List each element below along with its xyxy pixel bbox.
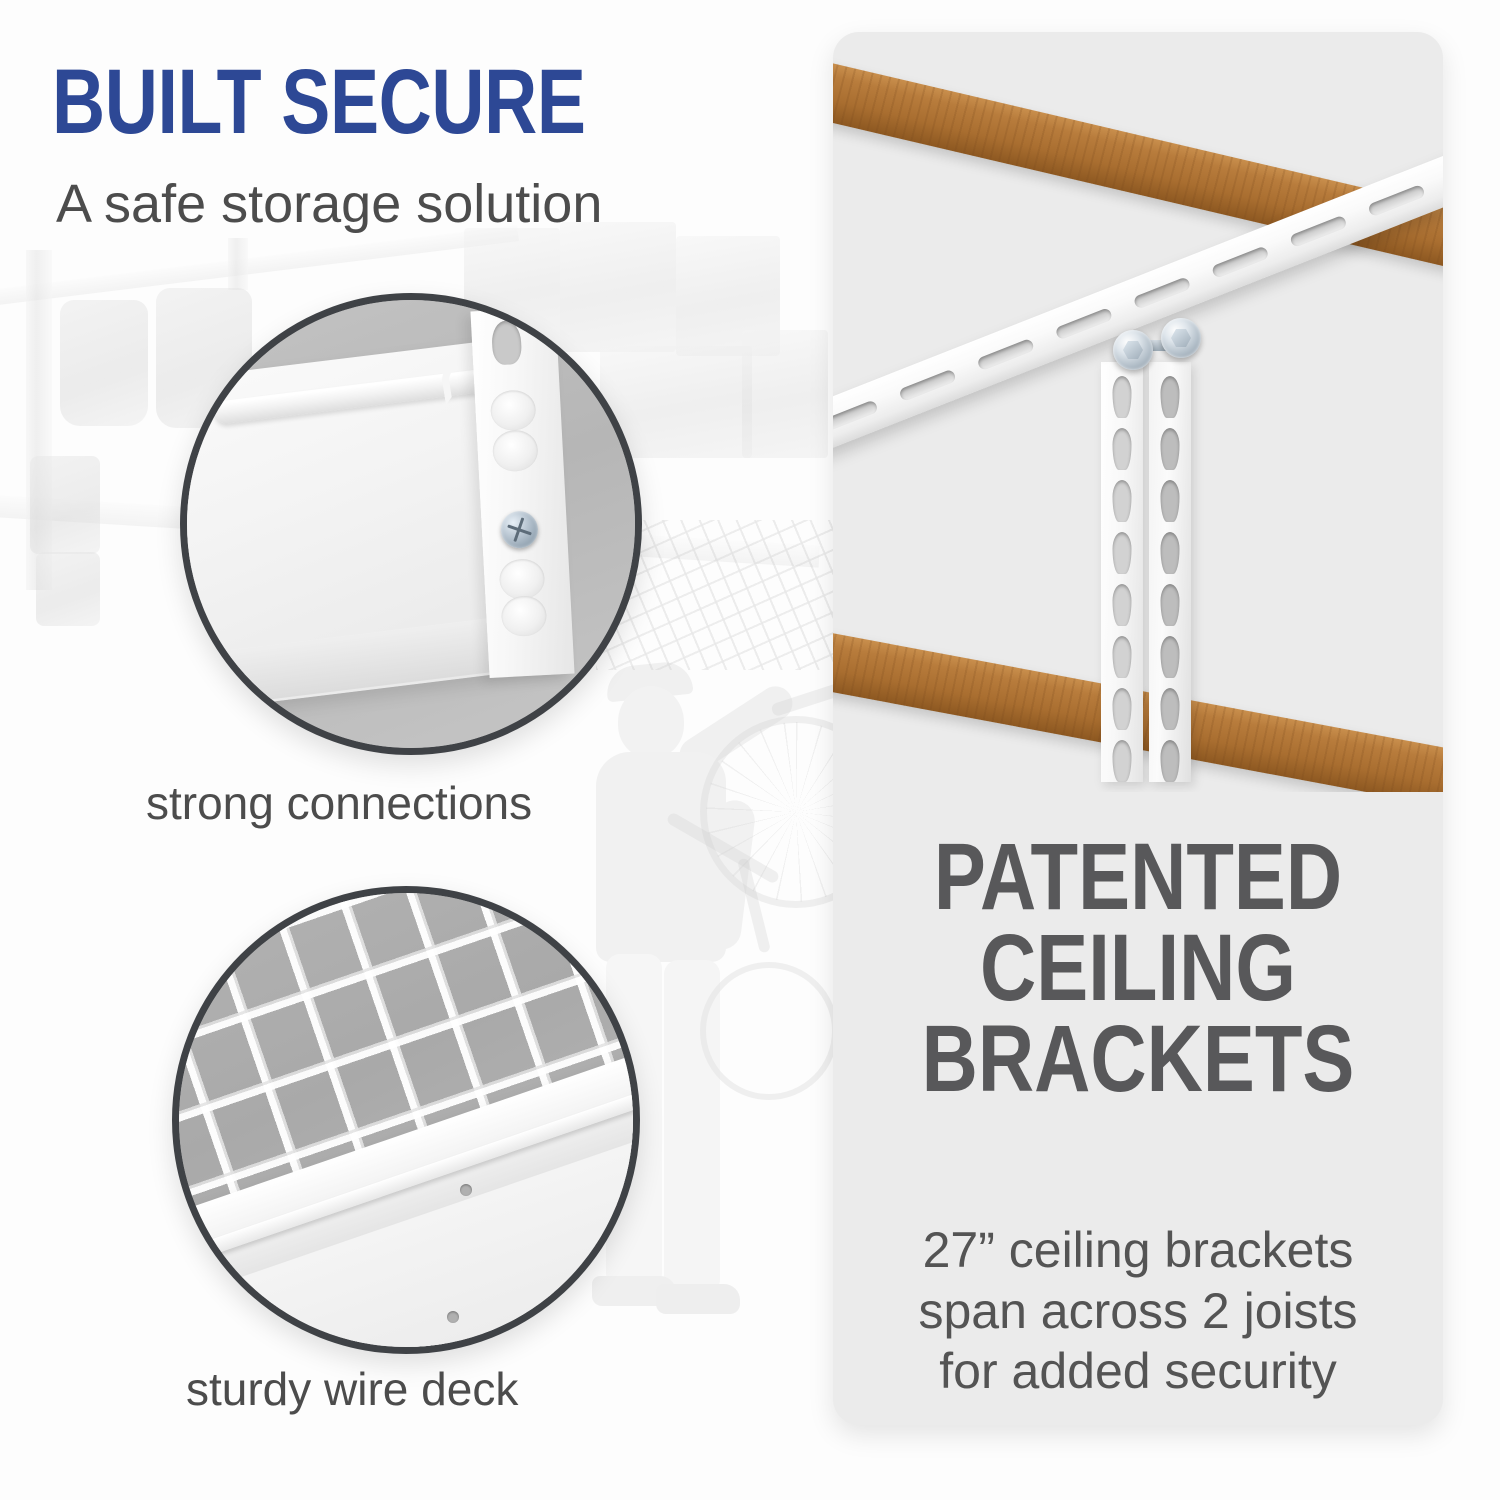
keyhole-slot — [1113, 480, 1132, 522]
card-subcaption: 27” ceiling brackets span across 2 joist… — [833, 1220, 1443, 1402]
ghost-person-lower-arm — [699, 798, 757, 952]
rail-slot — [976, 337, 1035, 370]
keyhole-slot — [1161, 584, 1180, 626]
vertical-hanging-rail-right — [1149, 362, 1191, 782]
ghost-person-shoe-right — [656, 1284, 740, 1314]
keyhole-slot — [1161, 428, 1180, 470]
ghost-bag-d — [36, 552, 100, 626]
product-feature-graphic: BUILT SECURE A safe storage solution str… — [0, 0, 1500, 1500]
keyhole-slot — [1161, 740, 1180, 782]
inset-sturdy-wire-deck — [172, 886, 640, 1354]
page-subheadline: A safe storage solution — [56, 176, 602, 233]
keyhole-slot — [1113, 688, 1132, 730]
wire-deck-mesh-photo — [179, 893, 633, 1347]
ghost-backpack-a — [60, 300, 148, 426]
keyhole-slot — [1113, 532, 1132, 574]
keyhole-slot — [1113, 428, 1132, 470]
page-headline: BUILT SECURE — [52, 58, 586, 146]
rail-slot — [1211, 245, 1270, 278]
vertical-hanging-rail-left — [1101, 362, 1143, 782]
hex-bolt-left — [1113, 330, 1153, 370]
keyhole-slot — [1113, 584, 1132, 626]
bracket-dimple-mid — [493, 429, 539, 472]
ghost-person-raised-arm — [673, 680, 799, 778]
keyhole-slot — [1113, 740, 1132, 782]
keyhole-slot — [1161, 636, 1180, 678]
ghost-bin-e — [742, 330, 828, 458]
keyhole-slot — [1161, 688, 1180, 730]
rail-slot — [1367, 183, 1426, 216]
card-title: PATENTED CEILING BRACKETS — [833, 832, 1443, 1106]
keyhole-slot — [492, 320, 523, 366]
bracket-dimple-upper — [490, 389, 536, 432]
ghost-bag-c — [30, 456, 100, 554]
card-subcaption-line-2: span across 2 joists — [833, 1281, 1443, 1342]
keyhole-slot — [1161, 480, 1180, 522]
ghost-rack-post-left — [26, 250, 52, 590]
zinc-phillips-screw — [500, 510, 539, 549]
deck-rivet-hole-a — [460, 1184, 472, 1196]
rail-slot — [1054, 307, 1113, 340]
keyhole-slot — [1113, 636, 1132, 678]
inset-strong-connections — [180, 293, 642, 755]
wooden-joist-upper — [833, 54, 1443, 284]
deck-rivet-hole-b — [447, 1311, 459, 1323]
rail-slot — [1289, 214, 1348, 247]
hex-bolt-right — [1161, 318, 1201, 358]
hex-bolt-pair — [1109, 320, 1229, 374]
inset-caption-strong-connections: strong connections — [146, 776, 532, 830]
bracket-dimple-lower-b — [501, 594, 547, 637]
card-title-line-2: CEILING — [888, 923, 1388, 1014]
bracket-rail-connection-photo — [187, 300, 635, 748]
rail-slot — [898, 368, 957, 401]
ghost-bicycle-frame-bar-b — [737, 858, 771, 954]
rail-slot — [833, 399, 879, 432]
ghost-bin-c — [676, 236, 780, 356]
ghost-person-leg-right — [664, 960, 720, 1290]
card-subcaption-line-3: for added security — [833, 1341, 1443, 1402]
ghost-bicycle-frame-bar-a — [665, 811, 780, 884]
keyhole-slot — [1161, 376, 1180, 418]
bracket-dimple-lower-a — [499, 558, 545, 601]
card-title-line-1: PATENTED — [888, 832, 1388, 923]
patented-ceiling-brackets-card: PATENTED CEILING BRACKETS 27” ceiling br… — [833, 32, 1443, 1425]
keyhole-slot — [1113, 376, 1132, 418]
inset-caption-sturdy-wire-deck: sturdy wire deck — [186, 1362, 518, 1416]
ghost-rack-post-right — [228, 238, 248, 290]
card-subcaption-line-1: 27” ceiling brackets — [833, 1220, 1443, 1281]
card-title-line-3: BRACKETS — [888, 1014, 1388, 1105]
patented-ceiling-bracket-photo — [833, 32, 1443, 792]
rail-slot — [1133, 276, 1192, 309]
ghost-bicycle-wheel-front — [700, 962, 838, 1100]
keyhole-slot — [1161, 532, 1180, 574]
